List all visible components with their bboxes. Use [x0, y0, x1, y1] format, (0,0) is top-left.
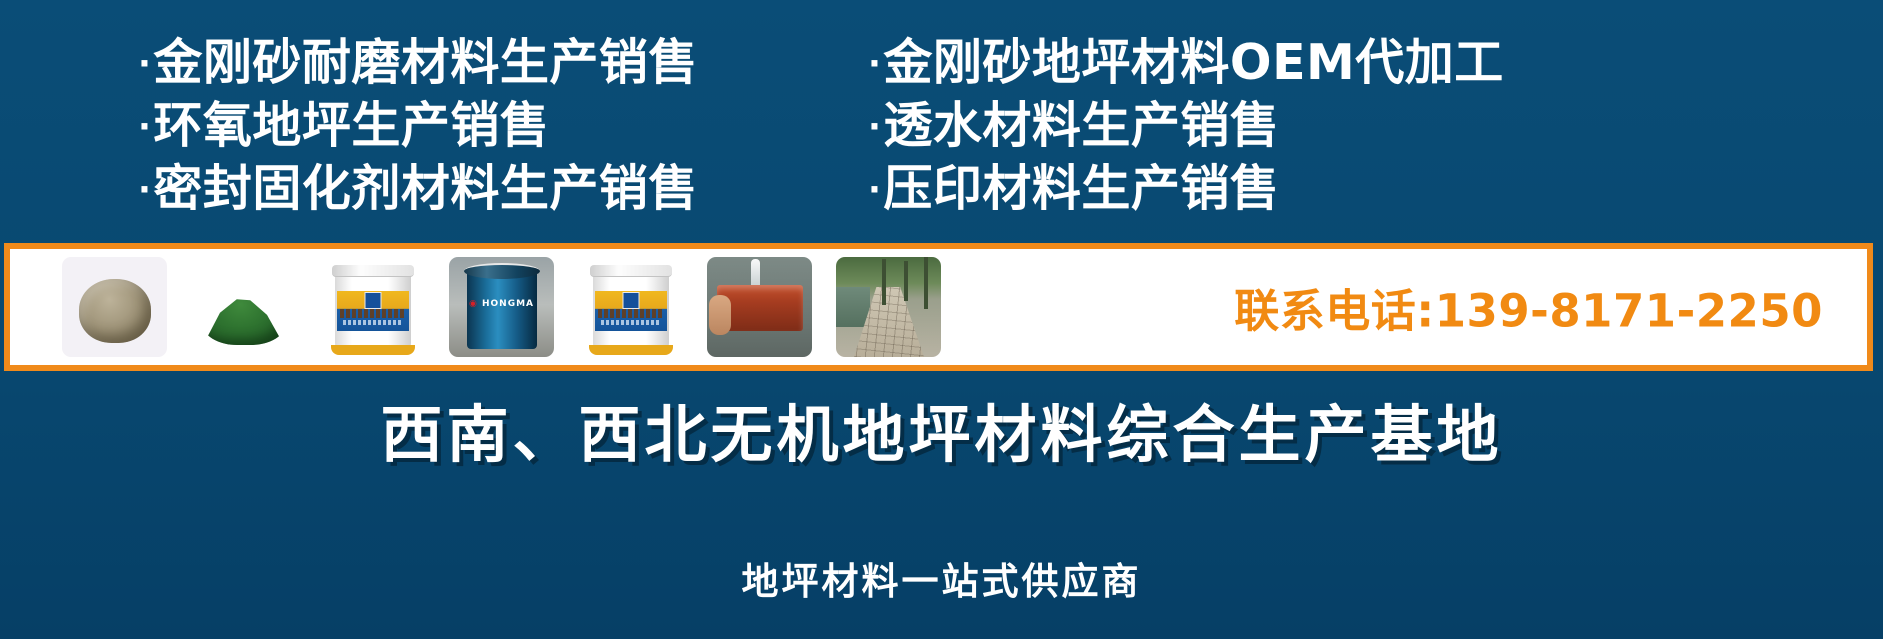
- permeable-demo-scene: [707, 257, 812, 357]
- service-bullets: · 金刚砂耐磨材料生产销售 · 环氧地坪生产销售 · 密封固化剂材料生产销售 ·…: [0, 34, 1883, 230]
- bullet-marker-icon: ·: [138, 98, 151, 156]
- bullet-item-2: · 环氧地坪生产销售: [138, 97, 858, 160]
- hongma-blue-drum-photo: ◉ HONGMA: [449, 257, 554, 357]
- epoxy-coating-bucket-photo: [578, 257, 683, 357]
- tree-icon: [924, 257, 928, 309]
- bucket-rim: [590, 265, 672, 277]
- bullet-item-4: · 金刚砂地坪材料OEM代加工: [868, 34, 1728, 97]
- bucket-label-band: [337, 291, 409, 331]
- bullet-item-6: · 压印材料生产销售: [868, 160, 1728, 223]
- product-thumbnail-list: ◉ HONGMA: [10, 249, 965, 365]
- drum-lid: [464, 263, 540, 279]
- stamped-concrete-path-photo: [836, 257, 941, 357]
- product-strip: ◉ HONGMA: [4, 243, 1873, 371]
- bullet-label-1: 金刚砂耐磨材料生产销售: [153, 34, 698, 92]
- bucket-rim: [332, 265, 414, 277]
- drum-background: ◉ HONGMA: [449, 257, 554, 357]
- bucket-label-en-text: [601, 320, 661, 325]
- bullet-marker-icon: ·: [138, 161, 151, 219]
- bucket-label-cn-text: [340, 309, 406, 318]
- bullet-column-left: · 金刚砂耐磨材料生产销售 · 环氧地坪生产销售 · 密封固化剂材料生产销售: [138, 34, 858, 230]
- bullet-label-2: 环氧地坪生产销售: [153, 97, 549, 155]
- tree-icon: [904, 261, 908, 301]
- bucket-label-band: [595, 291, 667, 331]
- promo-banner: · 金刚砂耐磨材料生产销售 · 环氧地坪生产销售 · 密封固化剂材料生产销售 ·…: [0, 0, 1883, 639]
- bullet-column-right: · 金刚砂地坪材料OEM代加工 · 透水材料生产销售 · 压印材料生产销售: [868, 34, 1728, 230]
- pond-shape: [836, 287, 870, 327]
- drum-shape: ◉ HONGMA: [467, 269, 537, 349]
- hand-shape: [709, 295, 731, 335]
- bullet-marker-icon: ·: [868, 35, 881, 93]
- bucket-base: [589, 345, 673, 355]
- green-powder-photo: [191, 257, 296, 357]
- contact-phone-text[interactable]: 联系电话:139-8171-2250: [1234, 275, 1823, 340]
- bullet-marker-icon: ·: [868, 161, 881, 219]
- bucket-label-cn-text: [598, 309, 664, 318]
- green-powder-pile-shape: [202, 293, 286, 345]
- bucket-label-en-text: [343, 320, 403, 325]
- brand-mark-icon: [622, 292, 639, 309]
- bullet-label-3: 密封固化剂材料生产销售: [153, 160, 698, 218]
- permeable-paving-block-photo: [707, 257, 812, 357]
- grey-wear-resistant-powder-photo: [62, 257, 167, 357]
- paving-scene: [836, 257, 941, 357]
- bullet-item-3: · 密封固化剂材料生产销售: [138, 160, 858, 223]
- bucket-shape: [335, 265, 411, 353]
- bullet-item-1: · 金刚砂耐磨材料生产销售: [138, 34, 858, 97]
- bullet-marker-icon: ·: [138, 35, 151, 93]
- brand-mark-icon: [364, 292, 381, 309]
- headline-text: 西南、西北无机地坪材料综合生产基地: [0, 384, 1883, 474]
- tree-icon: [882, 259, 886, 305]
- bucket-base: [331, 345, 415, 355]
- bullet-label-6: 压印材料生产销售: [883, 160, 1279, 218]
- bucket-shape: [593, 265, 669, 353]
- subheadline-text: 地坪材料一站式供应商: [0, 551, 1883, 605]
- hongma-brand-text: ◉ HONGMA: [469, 299, 534, 309]
- bullet-label-4: 金刚砂地坪材料OEM代加工: [883, 34, 1503, 92]
- bullet-item-5: · 透水材料生产销售: [868, 97, 1728, 160]
- sealer-bucket-photo: [320, 257, 425, 357]
- powder-pile-shape: [79, 279, 151, 343]
- bullet-label-5: 透水材料生产销售: [883, 97, 1279, 155]
- bullet-marker-icon: ·: [868, 98, 881, 156]
